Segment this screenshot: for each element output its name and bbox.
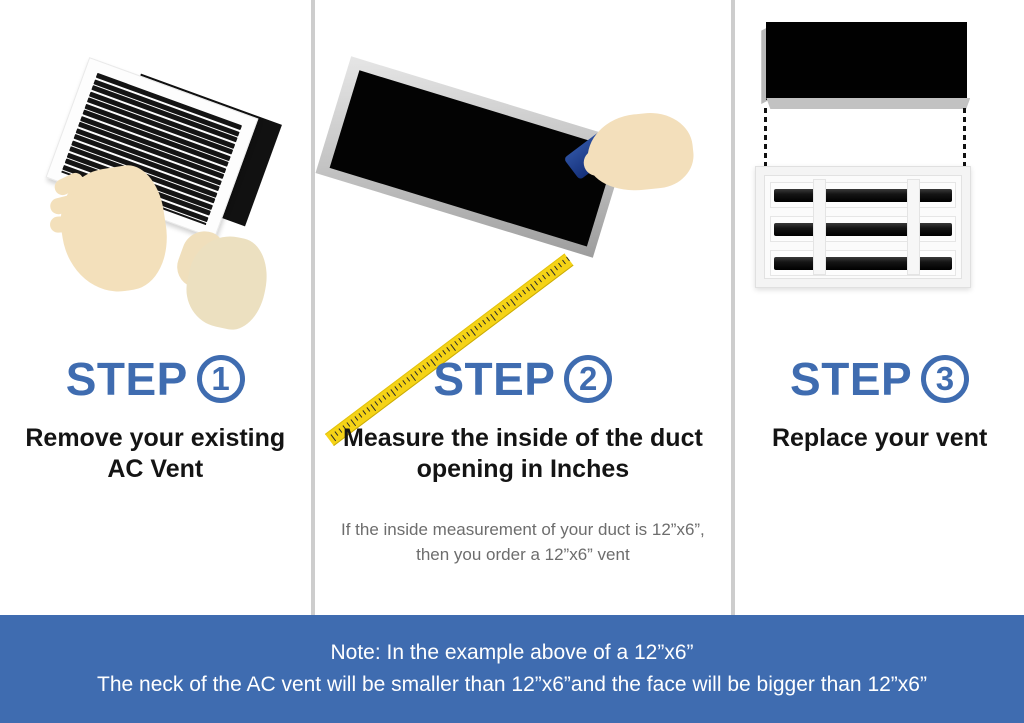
step-2-subtext: If the inside measurement of your duct i…	[315, 518, 732, 567]
step-1-title: STEP 1	[0, 355, 311, 403]
tape-tick	[546, 272, 550, 277]
tape-tick	[470, 329, 476, 336]
tape-tick	[450, 344, 456, 351]
step-number-badge: 1	[197, 355, 245, 403]
tape-tick	[490, 314, 496, 321]
step-3-description: Replace your vent	[735, 423, 1024, 454]
vent-vertical-divider	[907, 179, 920, 275]
tape-tick	[466, 332, 470, 337]
steps-columns: STEP 1 Remove your existing AC Vent	[0, 0, 1024, 615]
tape-tick	[502, 305, 506, 310]
step-label: STEP	[66, 356, 188, 402]
duct-hole-shape	[766, 22, 967, 100]
tape-tick	[542, 275, 546, 280]
vent-louver-row	[770, 182, 956, 208]
step-2-description: Measure the inside of the duct opening i…	[315, 423, 732, 484]
duct-opening-shape	[761, 22, 967, 108]
tape-tick	[462, 335, 466, 340]
finger-shape	[49, 215, 84, 233]
tape-tick	[566, 257, 570, 262]
tape-tick	[474, 326, 478, 331]
step-number-badge: 2	[564, 355, 612, 403]
tape-tick	[454, 341, 458, 346]
step-1-description: Remove your existing AC Vent	[0, 423, 311, 484]
tape-tick	[506, 302, 510, 307]
step-2-title: STEP 2	[315, 355, 732, 403]
step-2-caption: STEP 2 Measure the inside of the duct op…	[315, 355, 732, 567]
vent-louver	[774, 257, 952, 270]
alignment-dashed-line	[764, 108, 767, 168]
tape-tick	[478, 323, 482, 328]
tape-tick	[534, 281, 538, 286]
tape-tick	[482, 320, 486, 325]
vent-louver-row	[770, 216, 956, 242]
step-column-3: STEP 3 Replace your vent	[735, 0, 1024, 615]
tape-tick	[522, 290, 526, 295]
ac-vent-shape	[755, 166, 971, 288]
step-1-illustration	[0, 0, 311, 355]
step-1-caption: STEP 1 Remove your existing AC Vent	[0, 355, 311, 484]
tape-tick	[530, 284, 536, 291]
tape-tick	[510, 299, 516, 306]
step-label: STEP	[433, 356, 555, 402]
step-column-2: STEP 2 Measure the inside of the duct op…	[315, 0, 732, 615]
step-2-illustration	[315, 0, 732, 355]
tape-tick	[518, 293, 522, 298]
tape-tick	[554, 266, 558, 271]
step-number-badge: 3	[921, 355, 969, 403]
note-line-2: The neck of the AC vent will be smaller …	[97, 672, 927, 698]
tape-tick	[550, 269, 556, 276]
alignment-dashed-line	[963, 108, 966, 168]
step-column-1: STEP 1 Remove your existing AC Vent	[0, 0, 311, 615]
tape-tick	[446, 347, 450, 352]
note-line-1: Note: In the example above of a 12”x6”	[330, 640, 693, 666]
step-3-caption: STEP 3 Replace your vent	[735, 355, 1024, 454]
step-label: STEP	[790, 356, 912, 402]
tape-tick	[494, 311, 498, 316]
vent-vertical-divider	[813, 179, 826, 275]
step-3-illustration	[735, 0, 1024, 355]
tape-tick	[514, 296, 518, 301]
tape-tick	[562, 260, 566, 265]
infographic-page: STEP 1 Remove your existing AC Vent	[0, 0, 1024, 723]
duct-bottom-edge-shape	[766, 98, 970, 109]
tape-tick	[526, 287, 530, 292]
tape-tick	[486, 317, 490, 322]
step-3-title: STEP 3	[735, 355, 1024, 403]
note-bar: Note: In the example above of a 12”x6” T…	[0, 615, 1024, 723]
tape-tick	[538, 278, 542, 283]
tape-tick	[558, 263, 562, 268]
vent-louver-row	[770, 250, 956, 276]
vent-louver	[774, 189, 952, 202]
tape-tick	[498, 308, 502, 313]
tape-tick	[458, 338, 462, 343]
vent-louver	[774, 223, 952, 236]
